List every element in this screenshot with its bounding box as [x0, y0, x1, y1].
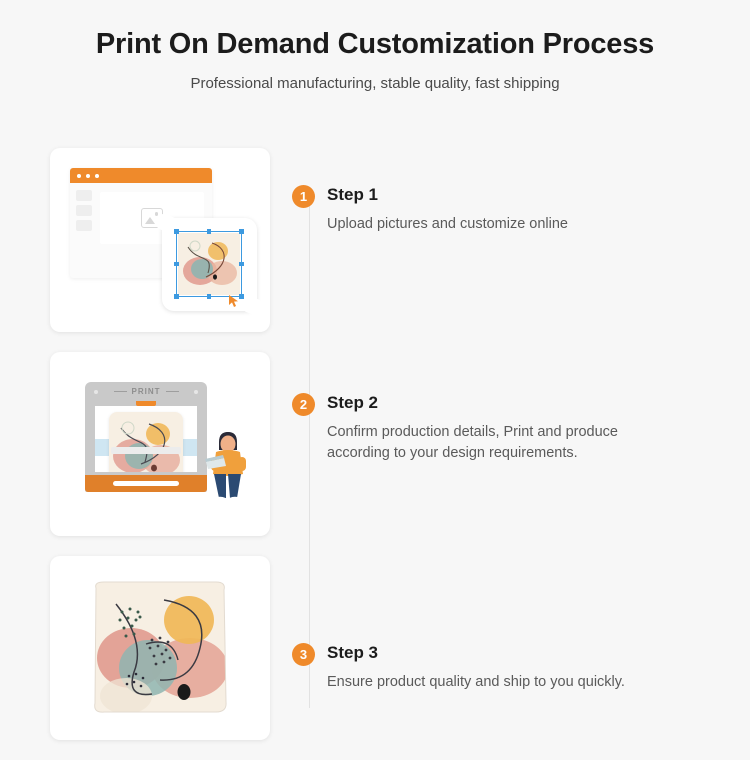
operator-figure: [202, 424, 254, 511]
artwork-svg: [109, 412, 183, 472]
resize-handle[interactable]: [174, 262, 179, 267]
step-1-illustration-card: SAVE: [50, 148, 270, 332]
resize-handle[interactable]: [174, 229, 179, 234]
step-2-illustration-card: PRINT: [50, 352, 270, 536]
resize-handle[interactable]: [239, 262, 244, 267]
step-badge: 2: [292, 393, 315, 416]
window-dot-icon: [86, 174, 90, 178]
selection-box[interactable]: [176, 231, 242, 297]
step-3-illustration-card: [50, 556, 270, 740]
step-1-text: 1 Step 1 Upload pictures and customize o…: [292, 148, 568, 235]
window-dot-icon: [77, 174, 81, 178]
printing-machine-illustration: PRINT: [50, 352, 270, 536]
page-subtitle: Professional manufacturing, stable quali…: [0, 75, 750, 92]
step-title: Step 2: [327, 392, 618, 414]
machine-tray: [111, 447, 181, 454]
browser-title-bar: [70, 168, 212, 183]
machine-label: PRINT: [132, 387, 161, 396]
finished-pillow-product: [86, 576, 234, 720]
resize-handle[interactable]: [207, 294, 212, 299]
step-description: Ensure product quality and ship to you q…: [327, 672, 625, 693]
step-row: PRINT: [0, 352, 750, 536]
product-photo-illustration: [50, 556, 270, 740]
step-badge: 3: [292, 643, 315, 666]
step-row: SAVE: [0, 148, 750, 332]
sidebar-block: [76, 205, 92, 216]
page-header: Print On Demand Customization Process Pr…: [0, 0, 750, 92]
printing-machine: PRINT: [85, 382, 207, 492]
page-title: Print On Demand Customization Process: [0, 28, 750, 61]
machine-header: PRINT: [85, 382, 207, 401]
step-row: 3 Step 3 Ensure product quality and ship…: [0, 556, 750, 740]
sidebar-block: [76, 190, 92, 201]
machine-window: [95, 406, 197, 472]
step-description: Confirm production details, Print and pr…: [327, 422, 618, 464]
resize-handle[interactable]: [207, 229, 212, 234]
pillow-preview: [162, 218, 257, 311]
window-dot-icon: [95, 174, 99, 178]
step-2-text: 2 Step 2 Confirm production details, Pri…: [292, 352, 618, 464]
step-3-text: 3 Step 3 Ensure product quality and ship…: [292, 556, 625, 693]
resize-handle[interactable]: [174, 294, 179, 299]
sidebar-placeholder: [76, 190, 92, 235]
arrow-cursor-icon: [228, 294, 240, 313]
artwork-svg: [86, 576, 234, 720]
pillow-in-production: [109, 412, 183, 472]
sidebar-block: [76, 220, 92, 231]
machine-base: [85, 475, 207, 492]
resize-handle[interactable]: [239, 229, 244, 234]
machine-dash: [166, 391, 179, 393]
step-description: Upload pictures and customize online: [327, 214, 568, 235]
machine-dash: [114, 391, 127, 393]
output-slot: [113, 481, 179, 486]
steps-list: SAVE: [0, 148, 750, 760]
step-title: Step 1: [327, 184, 568, 206]
infographic-page: Print On Demand Customization Process Pr…: [0, 0, 750, 750]
step-title: Step 3: [327, 642, 625, 664]
step-badge: 1: [292, 185, 315, 208]
browser-upload-illustration: SAVE: [50, 148, 270, 332]
